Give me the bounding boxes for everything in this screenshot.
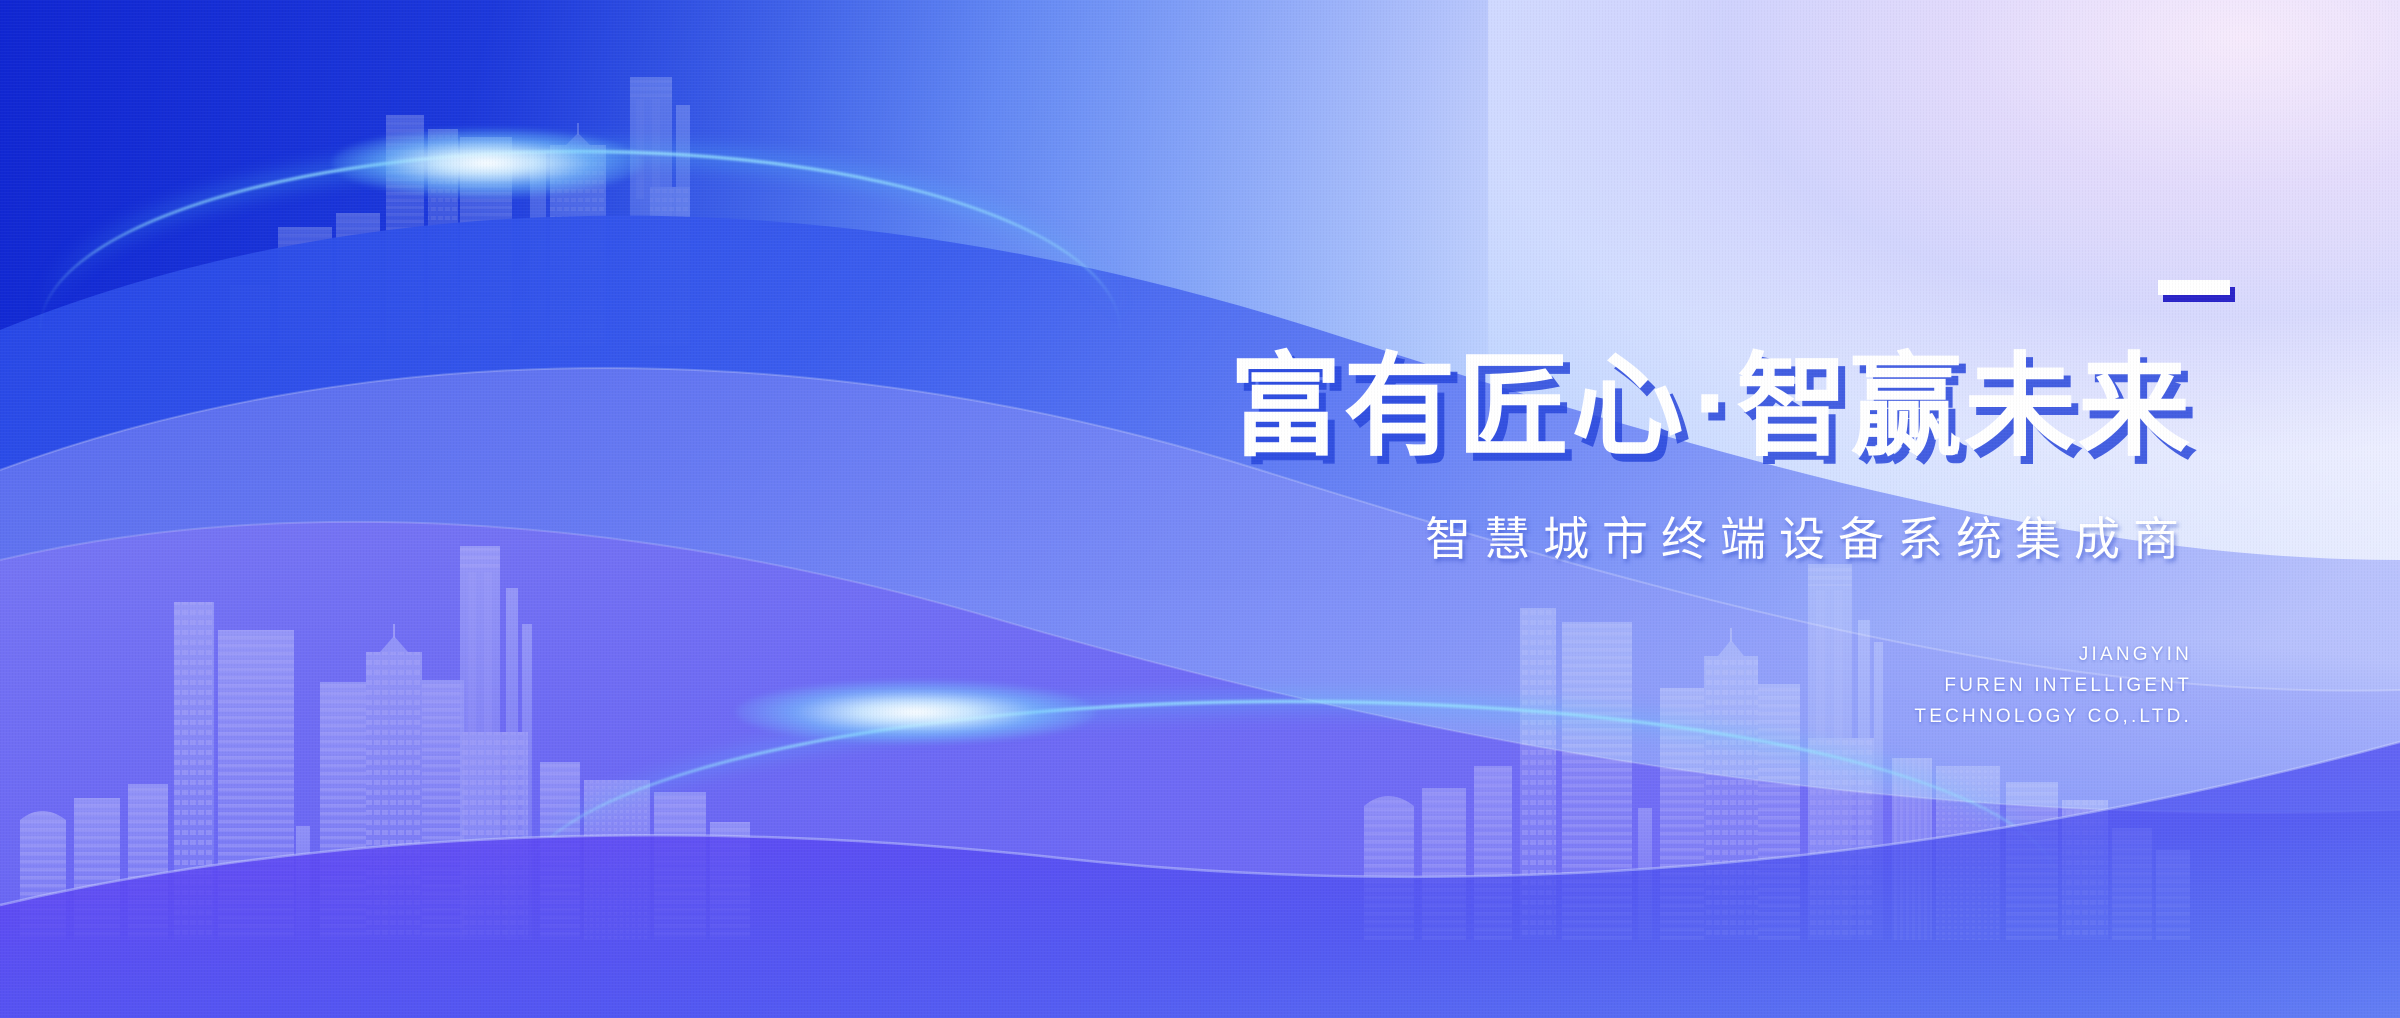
decorative-dash-icon bbox=[2158, 280, 2230, 295]
banner-content: 富有匠心·智赢未来 智慧城市终端设备系统集成商 JIANGYIN FUREN I… bbox=[0, 0, 2400, 1018]
company-line-3: TECHNOLOGY CO,.LTD. bbox=[1914, 702, 2192, 733]
company-name-block: JIANGYIN FUREN INTELLIGENT TECHNOLOGY CO… bbox=[1914, 640, 2192, 732]
banner-canvas: 富有匠心·智赢未来 智慧城市终端设备系统集成商 JIANGYIN FUREN I… bbox=[0, 0, 2400, 1018]
page-subtitle: 智慧城市终端设备系统集成商 bbox=[1425, 512, 2192, 567]
company-line-2: FUREN INTELLIGENT bbox=[1914, 671, 2192, 702]
headline-separator-dot: · bbox=[1686, 354, 1736, 456]
page-title: 富有匠心·智赢未来 bbox=[1230, 348, 2192, 467]
headline-right-text: 智赢未来 bbox=[1736, 342, 2192, 472]
company-line-1: JIANGYIN bbox=[1914, 640, 2192, 671]
headline-left-text: 富有匠心 bbox=[1230, 342, 1686, 472]
